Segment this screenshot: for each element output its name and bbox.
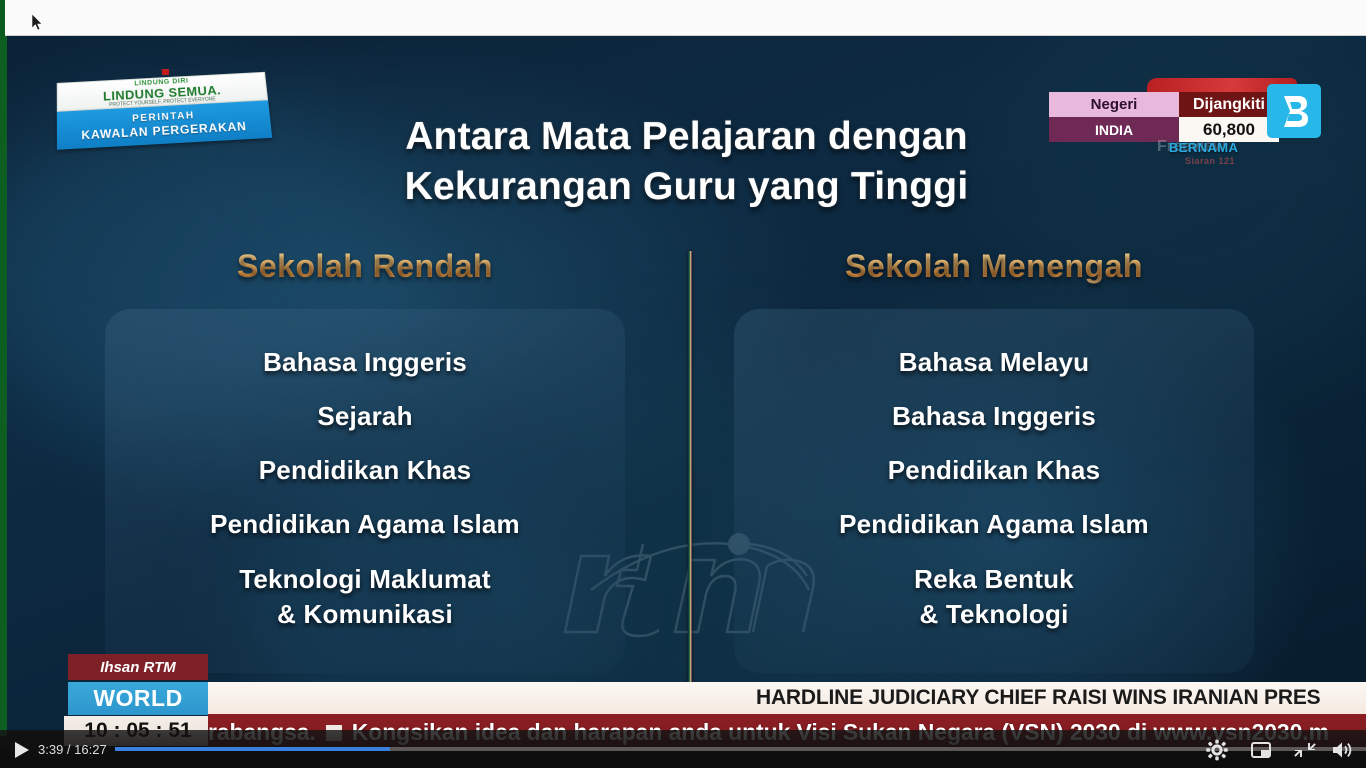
subject-item: Sejarah bbox=[317, 400, 412, 432]
fullscreen-exit-icon[interactable] bbox=[1292, 738, 1318, 762]
subject-panel-right: Bahasa Melayu Bahasa Inggeris Pendidikan… bbox=[734, 309, 1254, 673]
logo-red-marker bbox=[162, 69, 169, 75]
miniplayer-icon[interactable] bbox=[1248, 738, 1274, 762]
subject-line1: Sejarah bbox=[317, 400, 412, 432]
subject-item: Pendidikan Agama Islam bbox=[210, 508, 520, 540]
subject-line1: Bahasa Inggeris bbox=[263, 346, 467, 378]
subject-line1: Pendidikan Agama Islam bbox=[210, 508, 520, 540]
headline-ticker-text: HARDLINE JUDICIARY CHIEF RAISI WINS IRAN… bbox=[756, 686, 1320, 710]
column-sekolah-rendah: Sekolah Rendah Bahasa Inggeris Sejarah P… bbox=[105, 248, 625, 673]
play-icon[interactable] bbox=[10, 739, 32, 761]
subject-line1: Bahasa Inggeris bbox=[892, 400, 1096, 432]
window-edge-left-top bbox=[0, 0, 5, 40]
subject-line1: Pendidikan Khas bbox=[888, 454, 1101, 486]
column-heading-right: Sekolah Menengah bbox=[734, 248, 1254, 285]
subject-line1: Pendidikan Agama Islam bbox=[839, 508, 1149, 540]
subject-line1: Reka Bentuk bbox=[914, 562, 1074, 597]
subject-item: Bahasa Melayu bbox=[899, 346, 1089, 378]
window-edge-left bbox=[0, 36, 7, 736]
progress-bar-fill bbox=[115, 747, 390, 751]
subject-panel-left: Bahasa Inggeris Sejarah Pendidikan Khas … bbox=[105, 309, 625, 673]
screen-root: LINDUNG DIRI LINDUNG SEMUA. PROTECT YOUR… bbox=[0, 0, 1366, 768]
column-sekolah-menengah: Sekolah Menengah Bahasa Melayu Bahasa In… bbox=[734, 248, 1254, 673]
time-display: 3:39 / 16:27 bbox=[38, 742, 107, 757]
slide-title: Antara Mata Pelajaran dengan Kekurangan … bbox=[7, 112, 1366, 212]
subject-item: Bahasa Inggeris bbox=[892, 400, 1096, 432]
browser-top-strip bbox=[0, 0, 1366, 36]
subject-item: Teknologi Maklumat & Komunikasi bbox=[239, 562, 491, 632]
subject-line2: & Teknologi bbox=[914, 597, 1074, 632]
subject-line1: Bahasa Melayu bbox=[899, 346, 1089, 378]
progress-bar[interactable] bbox=[115, 747, 1366, 751]
column-heading-left: Sekolah Rendah bbox=[105, 248, 625, 285]
gear-icon[interactable] bbox=[1204, 738, 1230, 762]
credit-badge: Ihsan RTM bbox=[68, 654, 208, 680]
headline-ticker: HARDLINE JUDICIARY CHIEF RAISI WINS IRAN… bbox=[208, 682, 1366, 714]
section-badge: WORLD bbox=[68, 682, 208, 715]
subject-item: Reka Bentuk & Teknologi bbox=[914, 562, 1074, 632]
subject-item: Bahasa Inggeris bbox=[263, 346, 467, 378]
subject-line2: & Komunikasi bbox=[239, 597, 491, 632]
subject-item: Pendidikan Khas bbox=[259, 454, 472, 486]
volume-icon[interactable] bbox=[1330, 738, 1356, 762]
video-surface[interactable]: LINDUNG DIRI LINDUNG SEMUA. PROTECT YOUR… bbox=[7, 36, 1366, 730]
subject-item: Pendidikan Agama Islam bbox=[839, 508, 1149, 540]
column-divider bbox=[688, 251, 692, 701]
cursor-arrow-icon bbox=[32, 14, 44, 32]
subject-line1: Pendidikan Khas bbox=[259, 454, 472, 486]
slide-title-line1: Antara Mata Pelajaran dengan bbox=[7, 112, 1366, 162]
slide-title-line2: Kekurangan Guru yang Tinggi bbox=[7, 162, 1366, 212]
subject-line1: Teknologi Maklumat bbox=[239, 562, 491, 597]
subject-item: Pendidikan Khas bbox=[888, 454, 1101, 486]
